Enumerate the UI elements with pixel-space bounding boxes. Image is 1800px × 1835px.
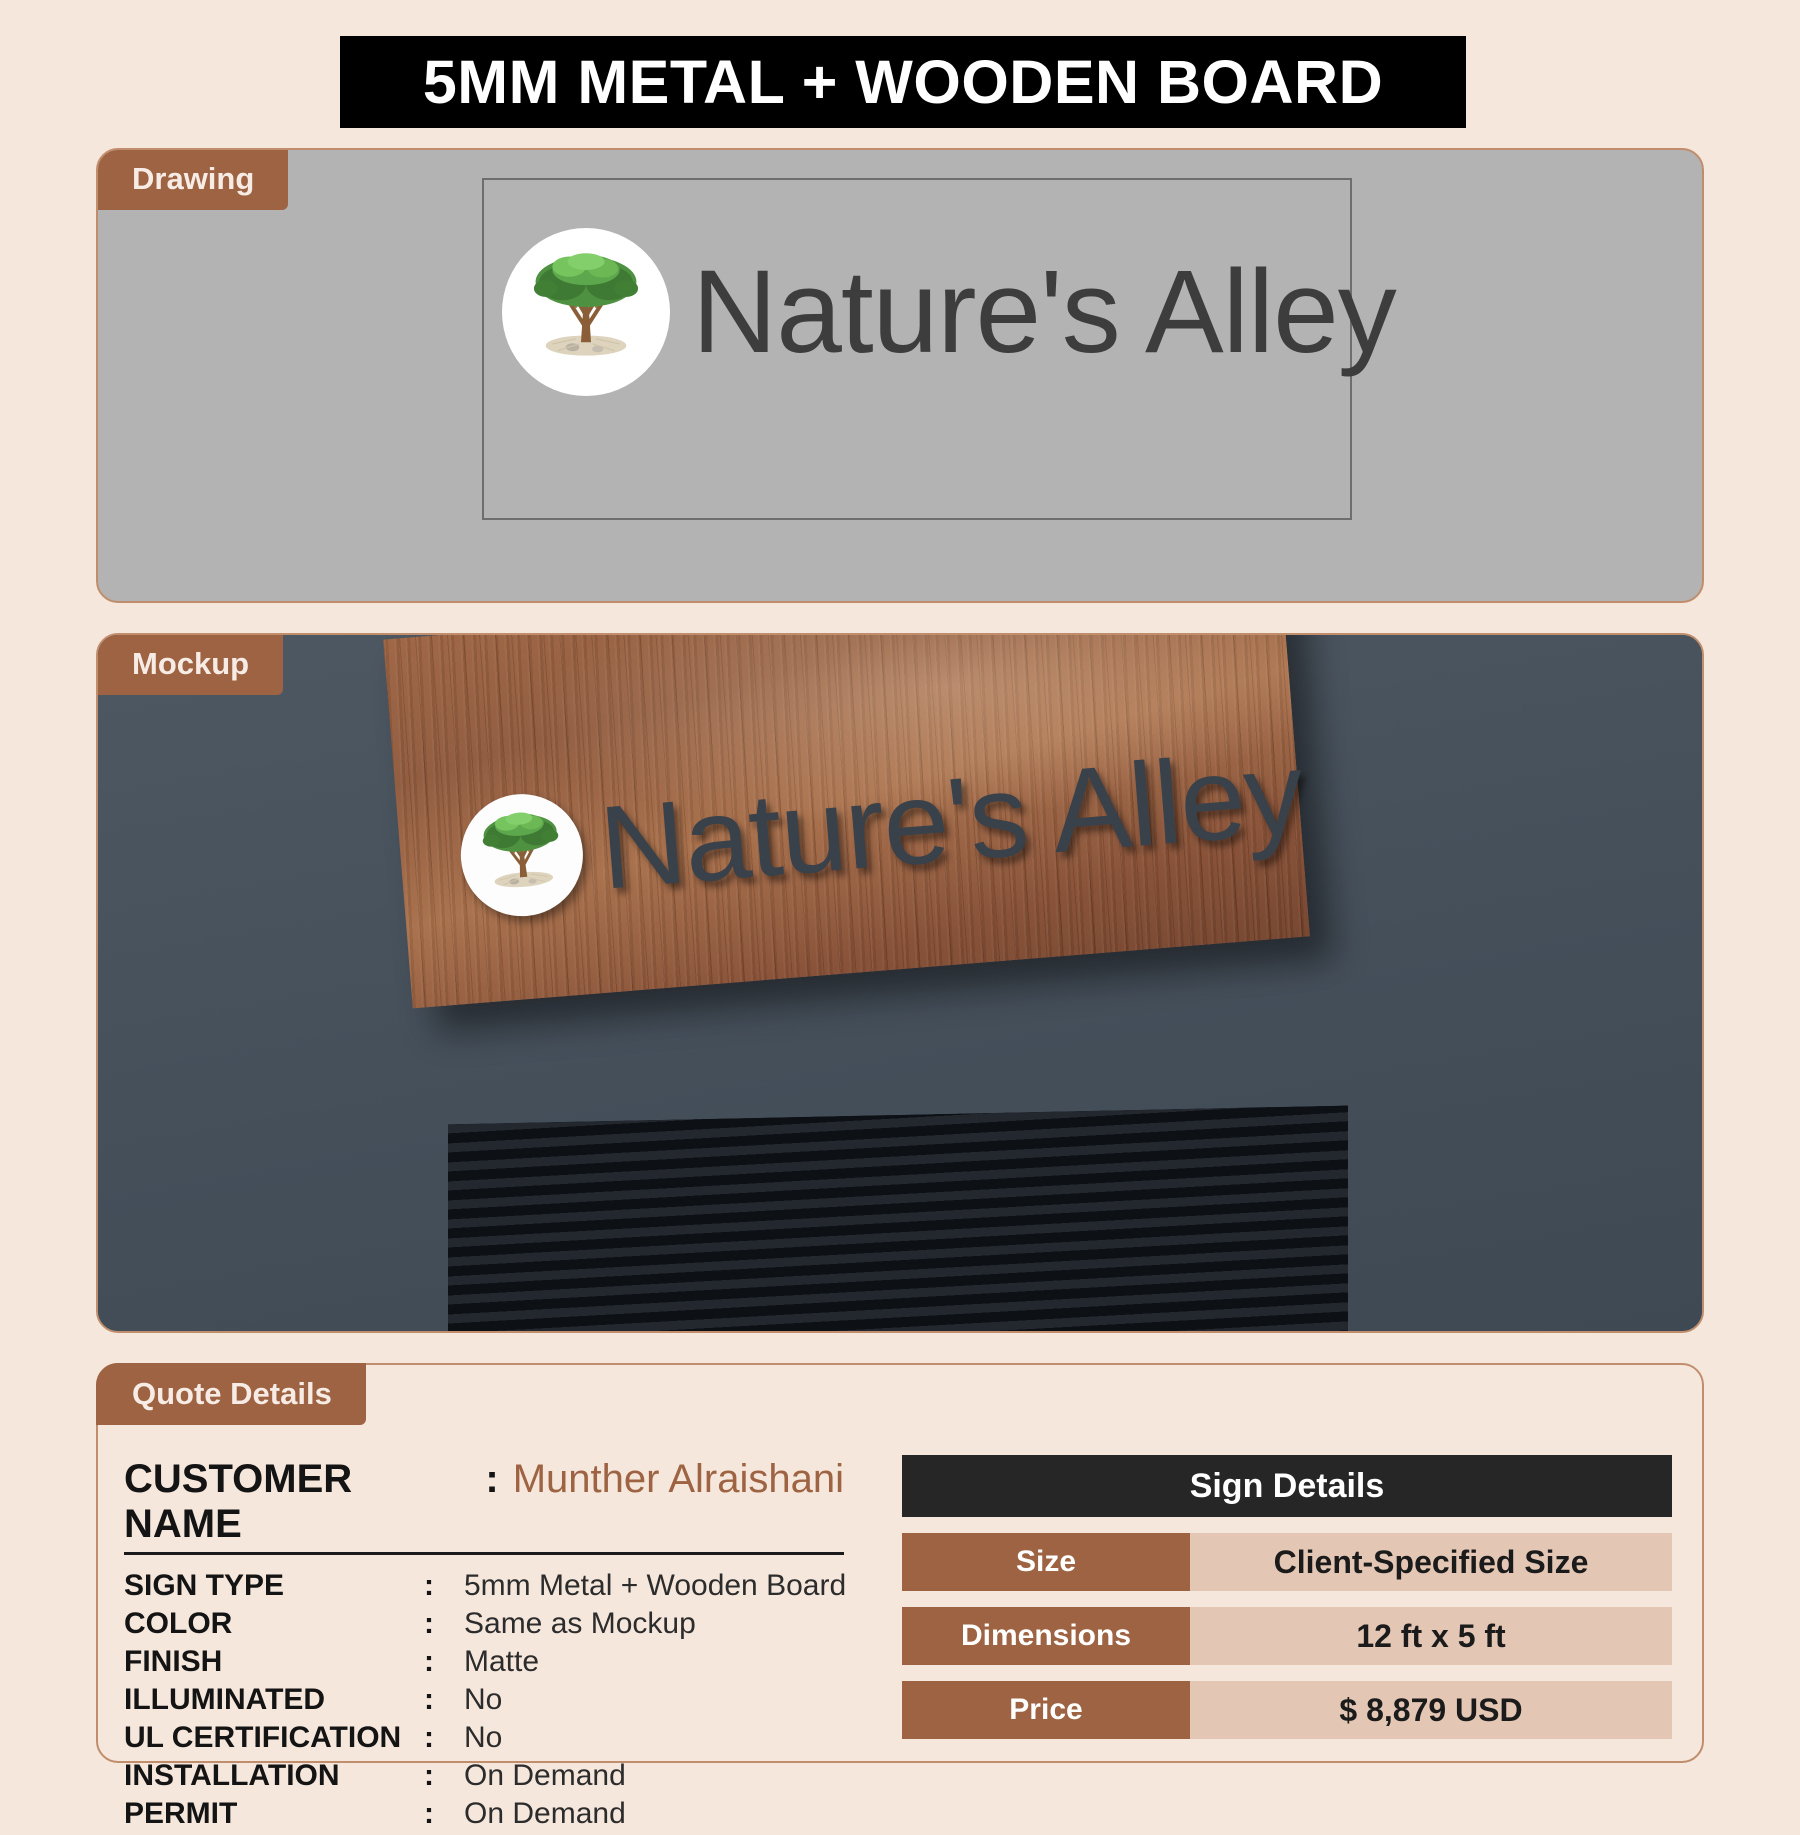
table-row: Price $ 8,879 USD — [902, 1681, 1672, 1739]
spec-colon: : — [424, 1645, 464, 1679]
drawing-panel: Drawing — [96, 148, 1704, 603]
spec-row: SIGN TYPE : 5mm Metal + Wooden Board — [124, 1569, 898, 1607]
spec-row: ILLUMINATED : No — [124, 1683, 898, 1721]
drawing-logo-lockup: Nature's Alley — [502, 228, 1396, 396]
quote-details-panel: Quote Details CUSTOMER NAME : Munther Al… — [96, 1363, 1704, 1763]
customer-name-value: Munther Alraishani — [513, 1457, 844, 1502]
spec-key: FINISH — [124, 1645, 424, 1679]
spec-colon: : — [424, 1683, 464, 1717]
spec-row: UL CERTIFICATION : No — [124, 1721, 898, 1759]
spec-value: Matte — [464, 1645, 539, 1679]
table-key-label: Size — [1016, 1545, 1076, 1579]
page-title: 5MM METAL + WOODEN BOARD — [423, 47, 1383, 117]
table-value-label: Client-Specified Size — [1274, 1544, 1589, 1581]
customer-name-colon: : — [485, 1457, 498, 1502]
table-row: Dimensions 12 ft x 5 ft — [902, 1607, 1672, 1665]
tree-logo-svg — [502, 228, 670, 396]
customer-spec-column: CUSTOMER NAME : Munther Alraishani SIGN … — [98, 1427, 898, 1761]
quote-details-tab-label: Quote Details — [132, 1376, 332, 1412]
quote-details-tab: Quote Details — [96, 1363, 366, 1425]
spec-row: PERMIT : On Demand — [124, 1797, 898, 1835]
table-key-label: Price — [1009, 1693, 1082, 1727]
spec-colon: : — [424, 1759, 464, 1793]
spec-value: No — [464, 1721, 502, 1755]
sign-details-header: Sign Details — [902, 1455, 1672, 1517]
table-row-value: 12 ft x 5 ft — [1190, 1607, 1672, 1665]
sign-details-table: Size Client-Specified Size Dimensions 12… — [902, 1533, 1672, 1739]
table-row-value: $ 8,879 USD — [1190, 1681, 1672, 1739]
spec-colon: : — [424, 1607, 464, 1641]
tree-logo-icon — [456, 789, 587, 920]
page-title-banner: 5MM METAL + WOODEN BOARD — [340, 36, 1466, 128]
spec-key: PERMIT — [124, 1797, 424, 1831]
spec-list: SIGN TYPE : 5mm Metal + Wooden Board COL… — [124, 1569, 898, 1835]
tree-logo-svg — [456, 789, 587, 920]
mockup-panel: Nature's Alley Mockup — [96, 633, 1704, 1333]
table-row-key: Size — [902, 1533, 1190, 1591]
blind-slats — [448, 1106, 1348, 1333]
spec-key: COLOR — [124, 1607, 424, 1641]
spec-row: INSTALLATION : On Demand — [124, 1759, 898, 1797]
tree-logo-icon — [502, 228, 670, 396]
sign-details-title: Sign Details — [1190, 1467, 1385, 1506]
drawing-tab: Drawing — [96, 148, 288, 210]
brand-wordmark: Nature's Alley — [692, 253, 1396, 371]
spec-colon: : — [424, 1569, 464, 1603]
mockup-tab-label: Mockup — [132, 646, 249, 682]
table-value-label: 12 ft x 5 ft — [1356, 1618, 1505, 1655]
spec-value: Same as Mockup — [464, 1607, 696, 1641]
spec-colon: : — [424, 1721, 464, 1755]
spec-value: 5mm Metal + Wooden Board — [464, 1569, 846, 1603]
table-row-value: Client-Specified Size — [1190, 1533, 1672, 1591]
mockup-tab: Mockup — [96, 633, 283, 695]
table-row: Size Client-Specified Size — [902, 1533, 1672, 1591]
spec-key: ILLUMINATED — [124, 1683, 424, 1717]
spec-key: SIGN TYPE — [124, 1569, 424, 1603]
mockup-window-blinds — [448, 1106, 1348, 1333]
drawing-tab-label: Drawing — [132, 161, 254, 197]
table-row-key: Price — [902, 1681, 1190, 1739]
spec-row: COLOR : Same as Mockup — [124, 1607, 898, 1645]
customer-name-label: CUSTOMER NAME — [124, 1457, 469, 1547]
table-row-key: Dimensions — [902, 1607, 1190, 1665]
sign-details-column: Sign Details Size Client-Specified Size … — [898, 1427, 1702, 1761]
spec-key: INSTALLATION — [124, 1759, 424, 1793]
spec-value: No — [464, 1683, 502, 1717]
table-value-label: $ 8,879 USD — [1339, 1692, 1522, 1729]
customer-name-row: CUSTOMER NAME : Munther Alraishani — [124, 1457, 844, 1555]
quote-body: CUSTOMER NAME : Munther Alraishani SIGN … — [98, 1427, 1702, 1761]
spec-row: FINISH : Matte — [124, 1645, 898, 1683]
spec-value: On Demand — [464, 1797, 626, 1831]
spec-key: UL CERTIFICATION — [124, 1721, 424, 1755]
table-key-label: Dimensions — [961, 1619, 1131, 1653]
spec-colon: : — [424, 1797, 464, 1831]
spec-value: On Demand — [464, 1759, 626, 1793]
